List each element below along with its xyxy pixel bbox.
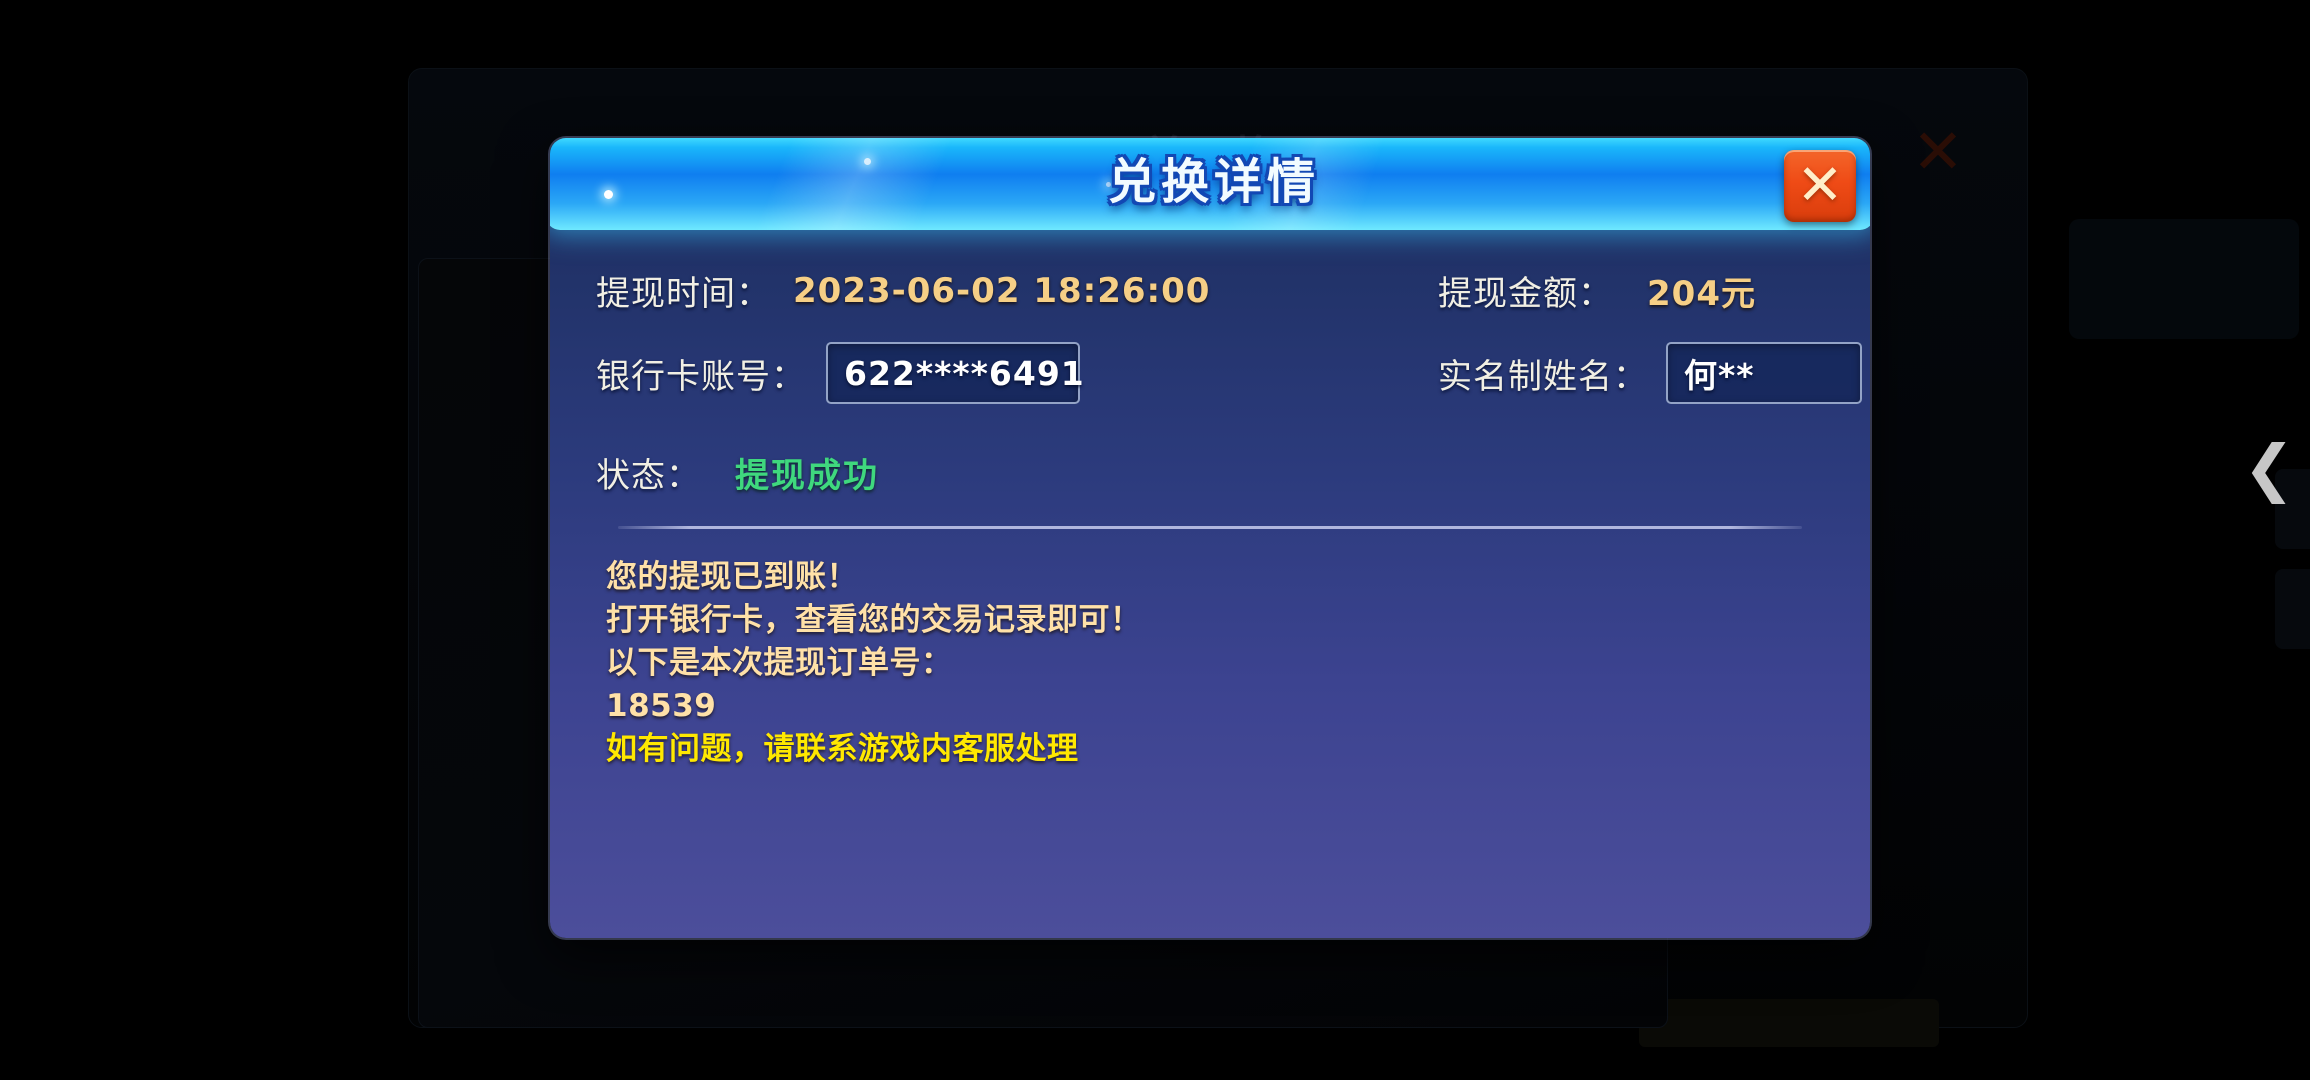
withdraw-time-label: 提现时间： <box>596 266 771 315</box>
message-line-support: 如有问题，请联系游戏内客服处理 <box>606 728 1806 771</box>
section-divider <box>618 526 1802 529</box>
withdraw-amount-row: 提现金额： 204元 <box>1438 266 1756 315</box>
close-button[interactable]: ✕ <box>1784 150 1856 222</box>
message-line: 您的提现已到账！ <box>606 556 1806 599</box>
message-line: 以下是本次提现订单号： <box>606 642 1806 685</box>
bank-card-row: 银行卡账号： 622****6491 <box>596 342 1080 404</box>
status-badge: 提现成功 <box>735 448 879 497</box>
background-side-panel <box>2069 219 2299 339</box>
background-bottom-bar <box>1639 999 1939 1047</box>
background-side-button-b[interactable] <box>2275 569 2310 649</box>
close-icon: ✕ <box>1784 150 1856 222</box>
screen: 兑 换 ✕ 兑 换 ❮ 兑换详情 ✕ 提现时间： 2023-06-02 18:2… <box>0 0 2310 1080</box>
dialog-title: 兑换详情 <box>550 138 1870 230</box>
real-name-value: 何** <box>1684 349 1755 397</box>
exchange-details-dialog: 兑换详情 ✕ 提现时间： 2023-06-02 18:26:00 提现金额： 2… <box>550 138 1870 938</box>
order-number: 18539 <box>606 685 1806 728</box>
real-name-label: 实名制姓名： <box>1438 349 1648 398</box>
status-label: 状态： <box>596 448 701 497</box>
bank-card-field[interactable]: 622****6491 <box>826 342 1080 404</box>
chevron-left-icon[interactable]: ❮ <box>2242 432 2296 504</box>
withdraw-amount-label: 提现金额： <box>1438 266 1613 315</box>
withdraw-time-value: 2023-06-02 18:26:00 <box>793 271 1210 311</box>
status-row: 状态： 提现成功 <box>596 448 879 497</box>
background-close-icon[interactable]: ✕ <box>1901 115 1975 189</box>
real-name-field[interactable]: 何** <box>1666 342 1862 404</box>
dialog-body: 提现时间： 2023-06-02 18:26:00 提现金额： 204元 银行卡… <box>550 234 1870 938</box>
message-block: 您的提现已到账！ 打开银行卡，查看您的交易记录即可！ 以下是本次提现订单号： 1… <box>606 556 1806 771</box>
bank-card-label: 银行卡账号： <box>596 349 806 398</box>
bank-card-value: 622****6491 <box>844 354 1085 393</box>
withdraw-amount-value: 204元 <box>1647 266 1756 315</box>
real-name-row: 实名制姓名： 何** <box>1438 342 1862 404</box>
withdraw-time-row: 提现时间： 2023-06-02 18:26:00 <box>596 266 1210 315</box>
message-line: 打开银行卡，查看您的交易记录即可！ <box>606 599 1806 642</box>
